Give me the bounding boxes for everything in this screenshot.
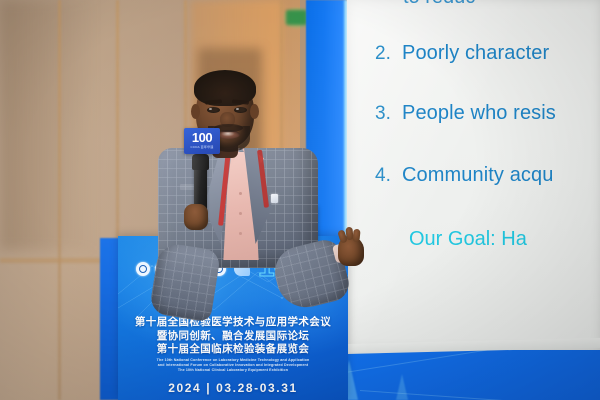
presentation-slide: to reduc 2. Poorly character 3. People w… bbox=[347, 0, 600, 350]
slide-bullet-2-text: Poorly character bbox=[402, 42, 549, 65]
eye-highlight-left bbox=[209, 108, 212, 110]
speaker-ear-right bbox=[250, 104, 259, 119]
speaker-person: 100 CCDA 百年华诞 bbox=[150, 56, 360, 256]
shirt-button-1 bbox=[239, 192, 242, 195]
conference-photo-stage: to reduc 2. Poorly character 3. People w… bbox=[0, 0, 600, 400]
jacket-badge-pin-icon bbox=[271, 194, 278, 203]
slide-bullet-2-number: 2. bbox=[363, 43, 402, 65]
podium-conference-subtitle: The 10th National Conference on Laborato… bbox=[132, 358, 334, 373]
podium-title-line-2: 暨协同创新、融合发展国际论坛 bbox=[118, 330, 348, 344]
backdrop-triangle-3 bbox=[396, 374, 408, 400]
podium-subtitle-line-3: The 10th National Clinical Laboratory Eq… bbox=[132, 368, 334, 373]
podium-title-line-3: 第十届全国临床检验装备展览会 bbox=[118, 343, 348, 357]
microphone-head-icon bbox=[192, 154, 209, 170]
slide-bullet-3: 3. People who resis bbox=[363, 102, 556, 125]
slide-goal-text: Our Goal: Ha bbox=[409, 228, 527, 251]
arm-left-check-pattern bbox=[149, 242, 221, 323]
slide-bullet-4-number: 4. bbox=[363, 165, 402, 187]
shirt-button-2 bbox=[239, 212, 242, 215]
podium-title-line-1: 第十届全国检验医学技术与应用学术会议 bbox=[118, 316, 348, 330]
slide-bullet-4-text: Community acqu bbox=[402, 164, 553, 187]
mic-flag-caption: CCDA 百年华诞 bbox=[184, 145, 220, 149]
exit-sign-icon bbox=[286, 10, 307, 25]
eye-highlight-right bbox=[236, 108, 239, 110]
finger-3 bbox=[352, 229, 360, 243]
speaker-hand-right bbox=[338, 236, 364, 266]
speaker-ear-left bbox=[191, 104, 200, 119]
slide-bullet-2: 2. Poorly character bbox=[363, 42, 549, 65]
mic-flag-number: 100 bbox=[184, 131, 220, 144]
slide-bullet-4: 4. Community acqu bbox=[363, 164, 553, 187]
backdrop-line-2 bbox=[360, 390, 590, 400]
speaker-torso bbox=[158, 148, 318, 268]
microphone-flag: 100 CCDA 百年华诞 bbox=[184, 128, 220, 154]
slide-bullet-3-text: People who resis bbox=[402, 102, 556, 125]
org-logo-1-icon bbox=[136, 262, 150, 276]
wall-left-shadow bbox=[0, 0, 96, 250]
shirt-button-3 bbox=[239, 232, 242, 235]
speaker-hand-left bbox=[184, 204, 208, 230]
slide-cut-line: to reduc bbox=[403, 0, 475, 9]
wall-panel-seam-1 bbox=[58, 0, 61, 400]
slide-bullet-3-number: 3. bbox=[363, 103, 402, 125]
podium-conference-title: 第十届全国检验医学技术与应用学术会议 暨协同创新、融合发展国际论坛 第十届全国临… bbox=[118, 316, 348, 357]
podium-conference-date: 2024 | 03.28-03.31 bbox=[118, 381, 348, 395]
